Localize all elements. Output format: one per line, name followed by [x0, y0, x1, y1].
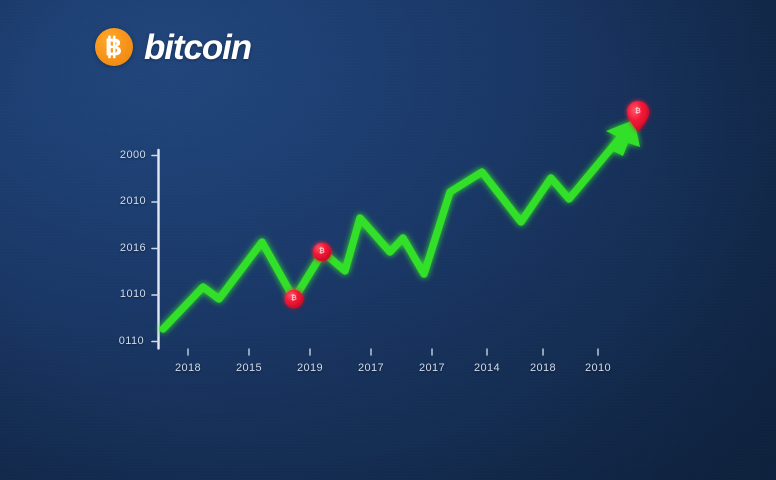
x-axis-label-0: 2018 — [163, 362, 213, 374]
x-axis-label-6: 2018 — [518, 362, 568, 374]
y-axis-label-0: 2000 — [106, 149, 146, 161]
x-axis-label-4: 2017 — [407, 362, 457, 374]
x-axis-label-3: 2017 — [346, 362, 396, 374]
marker-3-glyph: ₿ — [635, 108, 641, 115]
y-axis-label-3: 1010 — [106, 288, 146, 300]
marker-2-glyph: ₿ — [319, 248, 325, 255]
x-axis-label-7: 2010 — [573, 362, 623, 374]
y-axis-label-4: 0110 — [104, 335, 144, 347]
x-axis-label-5: 2014 — [462, 362, 512, 374]
y-axis-label-1: 2010 — [106, 195, 146, 207]
line-chart: ₿ ₿ ₿ 2000 2010 2016 1010 0110 2018 2015… — [0, 0, 776, 480]
chart-markers — [285, 101, 649, 308]
chart-screenshot: bitcoin — [0, 0, 776, 480]
x-axis-label-2: 2019 — [285, 362, 335, 374]
y-axis-label-2: 2016 — [106, 242, 146, 254]
marker-1-glyph: ₿ — [291, 295, 297, 302]
chart-line — [163, 120, 640, 329]
x-axis-label-1: 2015 — [224, 362, 274, 374]
